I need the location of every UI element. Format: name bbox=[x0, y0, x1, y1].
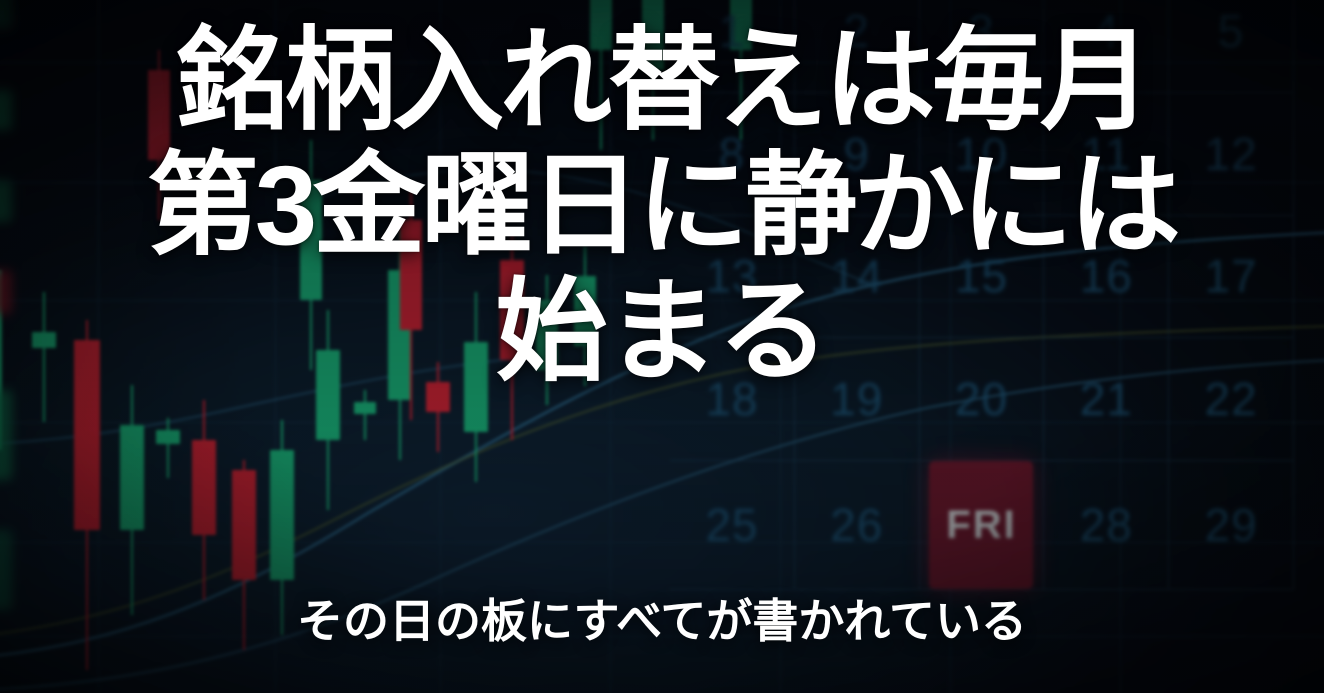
headline-line-1: 銘柄入れ替えは毎月 bbox=[0, 18, 1324, 143]
headline-line-3: 始まる bbox=[0, 269, 1324, 394]
subtitle: その日の板にすべてが書かれている bbox=[0, 585, 1324, 651]
thumbnail-canvas: 1 2 3 4 5 8 9 10 11 12 13 14 15 16 17 18… bbox=[0, 0, 1324, 693]
page-title: 銘柄入れ替えは毎月 第3金曜日に静かには 始まる bbox=[0, 18, 1324, 394]
headline-line-2: 第3金曜日に静かには bbox=[0, 143, 1324, 268]
